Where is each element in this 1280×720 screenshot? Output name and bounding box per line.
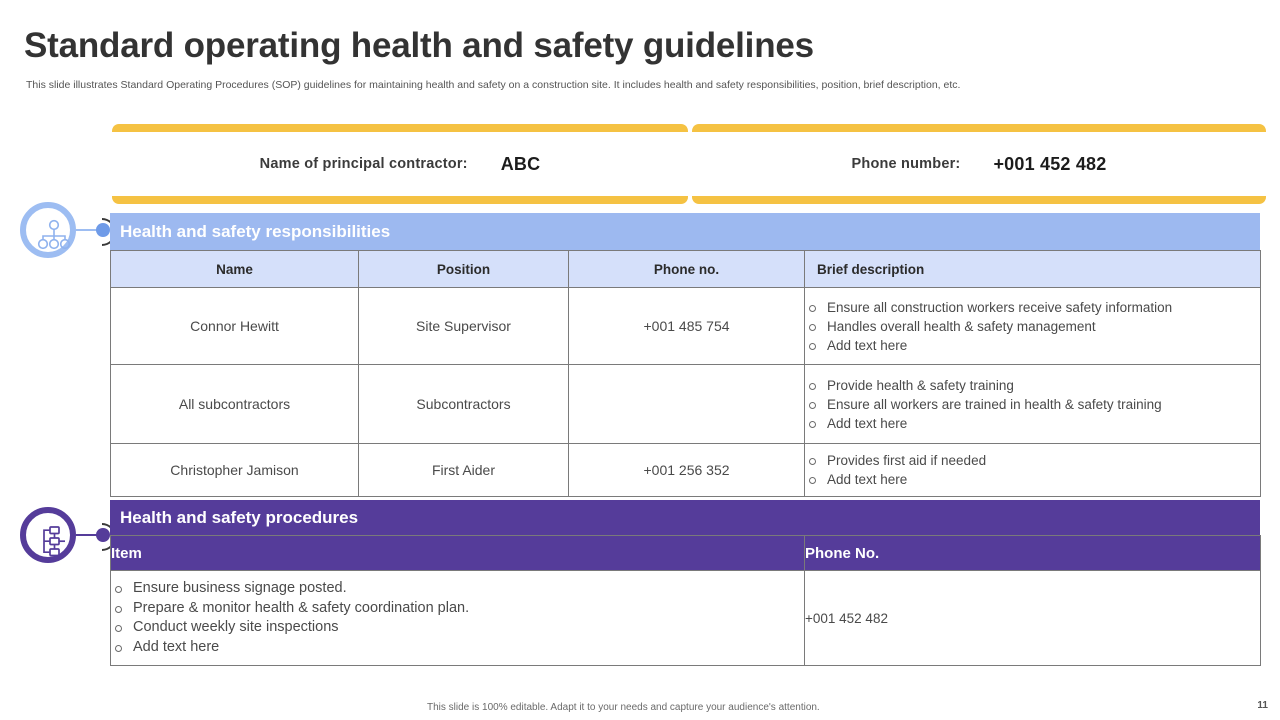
contractor-label: Name of principal contractor: [260,156,468,172]
table-row: Connor Hewitt Site Supervisor +001 485 7… [111,288,1261,365]
list-item: Ensure business signage posted. [111,579,804,599]
list-item: Add text here [111,638,804,658]
cell-description: Provide health & safety training Ensure … [805,365,1261,444]
table-header-row: Item Phone No. [111,536,1261,571]
list-item: Ensure all construction workers receive … [805,298,1260,317]
badge-ring [20,202,76,258]
description-list: Provides first aid if needed Add text he… [805,451,1260,489]
cell-position: Site Supervisor [359,288,569,365]
procedures-table: Item Phone No. Ensure business signage p… [110,535,1261,666]
footer-note: This slide is 100% editable. Adapt it to… [427,702,820,713]
column-header-phone: Phone no. [569,251,805,288]
cell-name: Christopher Jamison [111,444,359,497]
description-list: Ensure all construction workers receive … [805,298,1260,355]
column-header-phone: Phone No. [805,536,1261,571]
list-item: Ensure all workers are trained in health… [805,395,1260,414]
cell-items: Ensure business signage posted. Prepare … [111,571,805,666]
procedures-panel: Health and safety procedures Item Phone … [110,500,1260,666]
table-row: All subcontractors Subcontractors Provid… [111,365,1261,444]
list-item: Provides first aid if needed [805,451,1260,470]
contractor-value: ABC [501,154,541,175]
cell-position: Subcontractors [359,365,569,444]
page-subtitle: This slide illustrates Standard Operatin… [26,79,960,91]
page-number: 11 [1257,700,1268,711]
column-header-description: Brief description [805,251,1261,288]
badge-ring [20,507,76,563]
list-item: Prepare & monitor health & safety coordi… [111,599,804,619]
table-row: Christopher Jamison First Aider +001 256… [111,444,1261,497]
phone-value: +001 452 482 [993,154,1106,175]
cell-description: Ensure all construction workers receive … [805,288,1261,365]
list-item: Conduct weekly site inspections [111,618,804,638]
list-item: Add text here [805,336,1260,355]
column-header-item: Item [111,536,805,571]
responsibilities-band-title: Health and safety responsibilities [110,213,1260,250]
list-item: Handles overall health & safety manageme… [805,317,1260,336]
responsibilities-panel: Health and safety responsibilities Name … [110,213,1260,497]
cell-name: Connor Hewitt [111,288,359,365]
table-header-row: Name Position Phone no. Brief descriptio… [111,251,1261,288]
cell-phone: +001 485 754 [569,288,805,365]
contractor-info-card: Name of principal contractor: ABC [112,124,688,204]
page-title: Standard operating health and safety gui… [24,26,814,66]
cell-position: First Aider [359,444,569,497]
list-item: Add text here [805,414,1260,433]
list-item: Add text here [805,470,1260,489]
column-header-position: Position [359,251,569,288]
column-header-name: Name [111,251,359,288]
list-item: Provide health & safety training [805,376,1260,395]
procedures-list: Ensure business signage posted. Prepare … [111,579,804,657]
table-row: Ensure business signage posted. Prepare … [111,571,1261,666]
phone-info-card: Phone number: +001 452 482 [692,124,1266,204]
phone-label: Phone number: [852,156,961,172]
procedures-band-title: Health and safety procedures [110,500,1260,535]
description-list: Provide health & safety training Ensure … [805,376,1260,433]
cell-phone: +001 256 352 [569,444,805,497]
responsibilities-table: Name Position Phone no. Brief descriptio… [110,250,1261,497]
cell-name: All subcontractors [111,365,359,444]
cell-phone: +001 452 482 [805,571,1261,666]
cell-phone [569,365,805,444]
cell-description: Provides first aid if needed Add text he… [805,444,1261,497]
